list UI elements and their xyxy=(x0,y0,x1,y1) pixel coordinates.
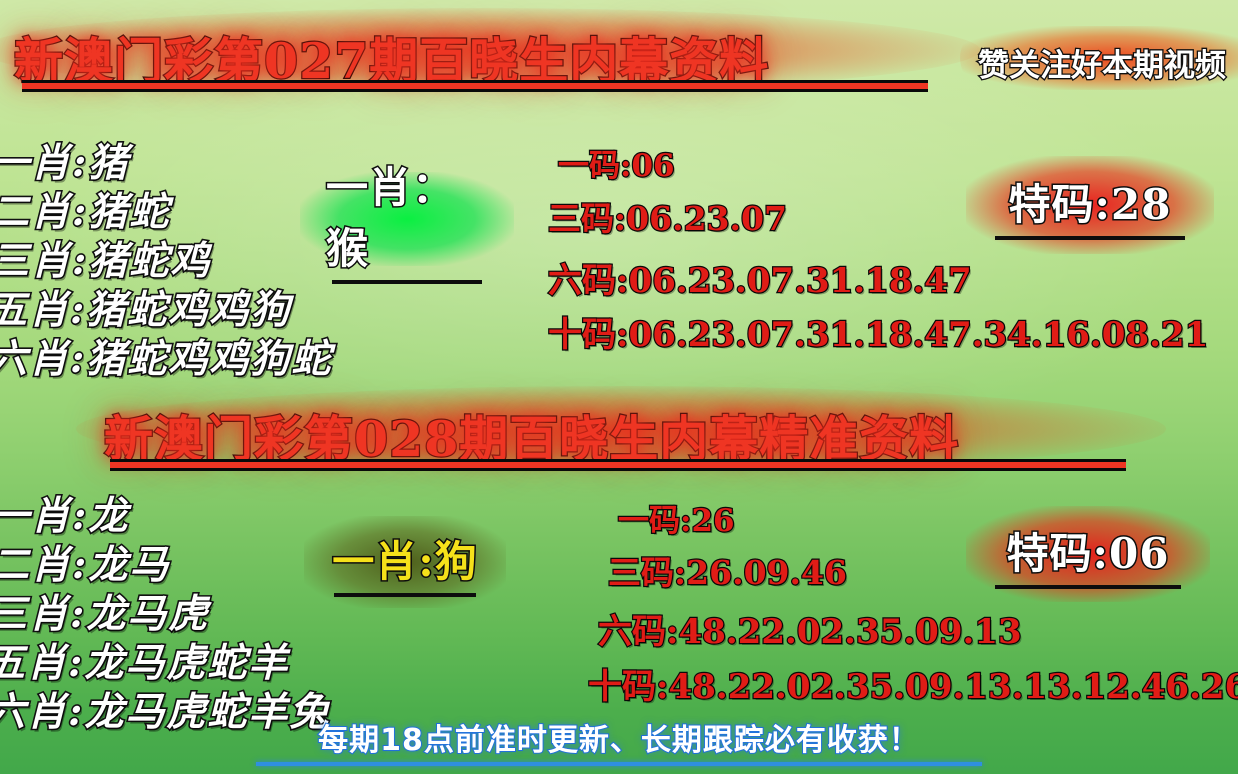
highlight-chip-028: 一肖:狗 xyxy=(330,534,480,590)
highlight-chip-027-label: 一肖：猴 xyxy=(326,154,488,276)
code-3-028: 三码:26.09.46 xyxy=(608,546,847,594)
code-3-027: 三码:06.23.07 xyxy=(548,192,787,240)
poster-canvas: 新澳门彩第027期百晓生内幕资料 赞关注好本期视频 一肖:猪 二肖:猪蛇 三肖:… xyxy=(0,0,1238,774)
promo-text: 赞关注好本期视频 xyxy=(978,40,1226,85)
special-chip-028-underline xyxy=(995,585,1181,589)
title-027-underline xyxy=(22,80,928,92)
code-6-028: 六码:48.22.02.35.09.13 xyxy=(598,604,1022,653)
zodiac-line-3-028: 三肖:龙马虎 xyxy=(0,583,209,639)
zodiac-line-2-028: 二肖:龙马 xyxy=(0,534,170,590)
zodiac-line-6-027: 六肖:猪蛇鸡鸡狗蛇 xyxy=(0,328,332,384)
special-chip-028: 特码:06 xyxy=(992,524,1184,584)
code-1-027: 一码:06 xyxy=(558,140,675,185)
footer-text: 每期18点前准时更新、长期跟踪必有收获！ xyxy=(318,715,920,759)
zodiac-line-1-028: 一肖:龙 xyxy=(0,485,129,541)
zodiac-line-2-027: 二肖:猪蛇 xyxy=(0,181,170,237)
special-chip-027-label: 特码:28 xyxy=(1009,171,1172,232)
code-1-028: 一码:26 xyxy=(618,495,735,540)
zodiac-line-5-027: 五肖:猪蛇鸡鸡狗 xyxy=(0,279,291,335)
special-chip-027: 特码:28 xyxy=(992,174,1188,236)
footer-underline xyxy=(256,762,982,766)
footer: 每期18点前准时更新、长期跟踪必有收获！ xyxy=(0,715,1238,766)
title-028-underline xyxy=(110,459,1126,471)
special-chip-027-underline xyxy=(995,236,1185,240)
zodiac-line-3-027: 三肖:猪蛇鸡 xyxy=(0,230,211,286)
special-chip-028-label: 特码:06 xyxy=(1007,520,1170,581)
code-6-027: 六码:06.23.07.31.18.47 xyxy=(548,253,972,302)
zodiac-line-5-028: 五肖:龙马虎蛇羊 xyxy=(0,632,289,688)
highlight-chip-027-underline xyxy=(332,280,482,284)
code-10-028: 十码:48.22.02.35.09.13.13.12.46.26.03 xyxy=(588,659,1238,708)
zodiac-line-1-027: 一肖:猪 xyxy=(0,132,129,188)
code-10-027: 十码:06.23.07.31.18.47.34.16.08.21 xyxy=(548,307,1208,356)
highlight-chip-027: 一肖：猴 xyxy=(326,190,488,248)
highlight-chip-028-label: 一肖:狗 xyxy=(332,528,478,589)
highlight-chip-028-underline xyxy=(334,593,476,597)
